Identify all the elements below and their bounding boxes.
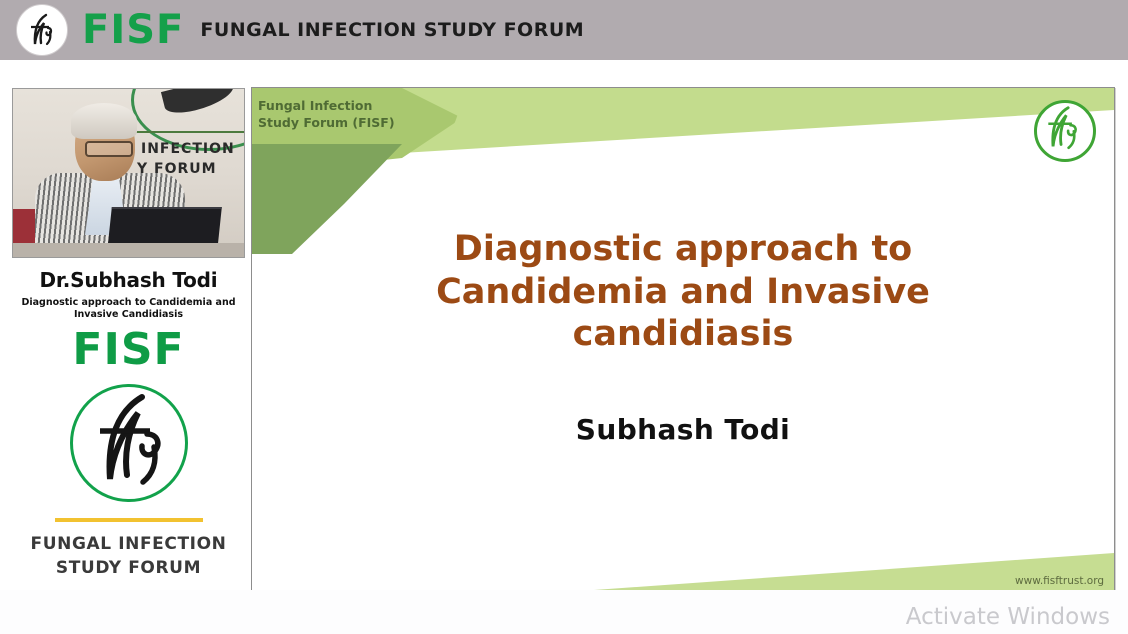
fisf-monogram-icon <box>16 4 68 56</box>
presentation-slide[interactable]: Fungal Infection Study Forum (FISF) Diag… <box>251 87 1115 594</box>
slide-url: www.fisftrust.org <box>1015 575 1104 587</box>
emblem-text-line1: FUNGAL INFECTION <box>12 534 245 554</box>
emblem-text-line2: STUDY FORUM <box>12 558 245 578</box>
speaker-panel: INFECTION Y FORUM Dr.Subhash Todi Diagno… <box>12 88 245 321</box>
backdrop-rule <box>133 131 245 133</box>
brand-tagline: FUNGAL INFECTION STUDY FORUM <box>200 19 584 41</box>
fisf-monogram-icon <box>1034 100 1096 162</box>
app-header-bar: FISF FUNGAL INFECTION STUDY FORUM <box>0 0 1128 60</box>
emblem-wordmark: FISF <box>12 328 245 372</box>
slide-author: Subhash Todi <box>312 413 1054 446</box>
speaker-topic: Diagnostic approach to Candidemia and In… <box>12 297 245 321</box>
slide-accent-bottom <box>252 553 1114 593</box>
slide-kicker-line1: Fungal Infection <box>258 98 448 115</box>
brand-wordmark: FISF <box>82 10 184 50</box>
fisf-monogram-icon <box>70 384 188 502</box>
slide-title-line2: Candidemia and Invasive <box>312 271 1054 314</box>
speaker-webcam-feed[interactable]: INFECTION Y FORUM <box>12 88 245 258</box>
fisf-emblem: FISF FUNGAL INFECTION STUDY FORUM <box>12 328 245 578</box>
slide-kicker: Fungal Infection Study Forum (FISF) <box>258 98 448 132</box>
content-stage: INFECTION Y FORUM Dr.Subhash Todi Diagno… <box>0 60 1128 634</box>
backdrop-text-line1: INFECTION <box>141 141 235 157</box>
speaker-name: Dr.Subhash Todi <box>12 268 245 292</box>
slide-title: Diagnostic approach to Candidemia and In… <box>312 228 1054 356</box>
podium-surface <box>13 243 244 257</box>
activate-windows-watermark: Activate Windows <box>906 604 1110 630</box>
slide-title-line3: candidiasis <box>312 313 1054 356</box>
speaker-hair <box>71 103 137 139</box>
emblem-divider <box>55 518 203 522</box>
slide-kicker-line2: Study Forum (FISF) <box>258 115 448 132</box>
speaker-glasses-icon <box>85 141 133 157</box>
slide-title-line1: Diagnostic approach to <box>312 228 1054 271</box>
